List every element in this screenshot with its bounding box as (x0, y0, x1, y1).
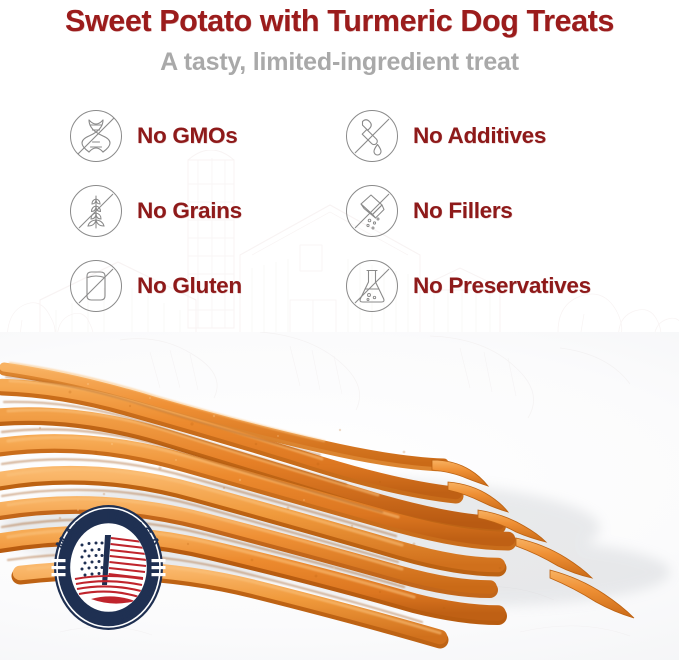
page-subtitle: A tasty, limited-ingredient treat (0, 47, 679, 77)
product-infographic: Sweet Potato with Turmeric Dog Treats A … (0, 0, 679, 660)
dropper-crossed-icon (344, 108, 400, 164)
dna-crossed-icon (68, 108, 124, 164)
claims-grid: No GMOs No Additives (0, 99, 679, 324)
claim-no-gluten: No Gluten (68, 258, 344, 314)
claim-label: No Gluten (137, 273, 242, 299)
header: Sweet Potato with Turmeric Dog Treats A … (0, 0, 679, 77)
claim-label: No Preservatives (413, 273, 591, 299)
claim-no-gmos: No GMOs (68, 108, 344, 164)
claim-no-grains: No Grains (68, 183, 344, 239)
claim-no-fillers: No Fillers (344, 183, 644, 239)
filler-bag-crossed-icon (344, 183, 400, 239)
wheat-crossed-icon (68, 183, 124, 239)
bread-crossed-icon (68, 258, 124, 314)
claim-no-additives: No Additives (344, 108, 644, 164)
claim-label: No Additives (413, 123, 546, 149)
page-title: Sweet Potato with Turmeric Dog Treats (0, 4, 679, 40)
flask-crossed-icon (344, 258, 400, 314)
claim-label: No Fillers (413, 198, 513, 224)
claim-label: No GMOs (137, 123, 237, 149)
claim-no-preservatives: No Preservatives (344, 258, 644, 314)
claim-label: No Grains (137, 198, 242, 224)
made-in-usa-badge: MADE IN USA SOURCED IN USA (31, 499, 186, 636)
